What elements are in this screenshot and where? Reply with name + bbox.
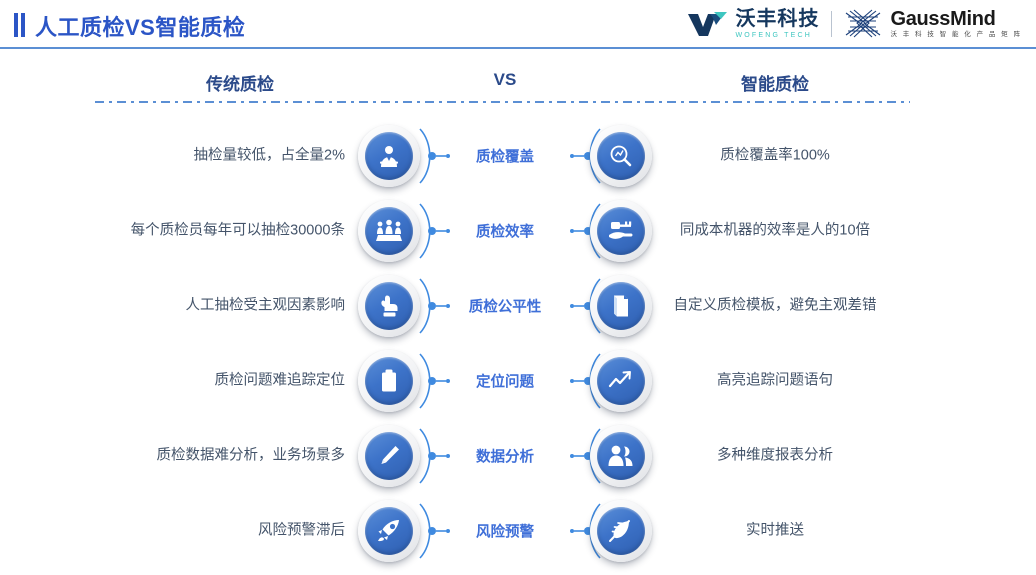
column-heading-vs: VS <box>445 70 565 90</box>
comparison-row: 质检问题难追踪定位 定位问题 <box>0 343 1036 418</box>
row-center-label: 质检公平性 <box>455 295 555 316</box>
row-right-text: 自定义质检模板，避免主观差错 <box>660 297 890 314</box>
comparison-row: 每个质检员每年可以抽检30000条 质检效率 <box>0 193 1036 268</box>
logo-separator <box>831 11 832 37</box>
team-meeting-icon <box>358 200 420 262</box>
header-divider-dashed <box>95 101 910 103</box>
page-header: 人工质检VS智能质检 沃丰科技 WOFENG TECH <box>0 0 1036 49</box>
feather-icon <box>590 500 652 562</box>
row-center-label: 质检效率 <box>455 220 555 241</box>
users-icon <box>590 425 652 487</box>
row-left-text: 抽检量较低，占全量2% <box>194 147 345 164</box>
row-left-text: 每个质检员每年可以抽检30000条 <box>131 222 345 239</box>
page-title: 人工质检VS智能质检 <box>35 10 245 42</box>
row-right-text: 质检覆盖率100% <box>660 147 890 164</box>
comparison-row: 风险预警滞后 风险预警 <box>0 493 1036 568</box>
wofeng-logo-en: WOFENG TECH <box>735 32 819 39</box>
row-right-text: 高亮追踪问题语句 <box>660 372 890 389</box>
gaussmind-logo-name: GaussMind <box>890 9 1022 29</box>
column-heading-intelligent: 智能质检 <box>680 70 870 95</box>
row-center-label: 质检覆盖 <box>455 145 555 166</box>
pointing-hand-icon <box>358 275 420 337</box>
row-center-label: 定位问题 <box>455 370 555 391</box>
businessman-icon <box>358 125 420 187</box>
magnifier-chart-icon <box>590 125 652 187</box>
row-center-label: 风险预警 <box>455 520 555 541</box>
row-left-text: 风险预警滞后 <box>258 522 345 539</box>
row-left-text: 质检数据难分析，业务场景多 <box>157 447 346 464</box>
comparison-row: 人工抽检受主观因素影响 质检公平性 <box>0 268 1036 343</box>
gaussmind-logo-sub: 沃 丰 科 技 智 能 化 产 品 矩 阵 <box>890 32 1022 39</box>
trend-chart-icon <box>590 350 652 412</box>
row-right-text: 实时推送 <box>660 522 890 539</box>
logo-group: 沃丰科技 WOFENG TECH <box>686 6 1022 42</box>
row-right-text: 同成本机器的效率是人的10倍 <box>660 222 890 239</box>
wofeng-logo-cn: 沃丰科技 <box>735 9 819 29</box>
hand-key-icon <box>590 200 652 262</box>
column-heading-traditional: 传统质检 <box>145 70 335 95</box>
header-rule <box>0 47 1036 49</box>
pencil-icon <box>358 425 420 487</box>
rocket-icon <box>358 500 420 562</box>
comparison-row: 抽检量较低，占全量2% 质检覆盖 <box>0 118 1036 193</box>
book-icon <box>590 275 652 337</box>
row-left-text: 质检问题难追踪定位 <box>215 372 346 389</box>
clipboard-icon <box>358 350 420 412</box>
row-center-label: 数据分析 <box>455 445 555 466</box>
comparison-rows: 抽检量较低，占全量2% 质检覆盖 <box>0 118 1036 568</box>
wofeng-logo: 沃丰科技 WOFENG TECH <box>686 9 819 39</box>
gaussmind-weave-mark <box>844 7 882 41</box>
comparison-row: 质检数据难分析，业务场景多 数据分析 <box>0 418 1036 493</box>
wofeng-w-mark <box>686 10 728 38</box>
gaussmind-logo: GaussMind 沃 丰 科 技 智 能 化 产 品 矩 阵 <box>844 7 1022 41</box>
row-right-text: 多种维度报表分析 <box>660 447 890 464</box>
row-left-text: 人工抽检受主观因素影响 <box>186 297 346 314</box>
title-bars-icon <box>14 13 28 37</box>
